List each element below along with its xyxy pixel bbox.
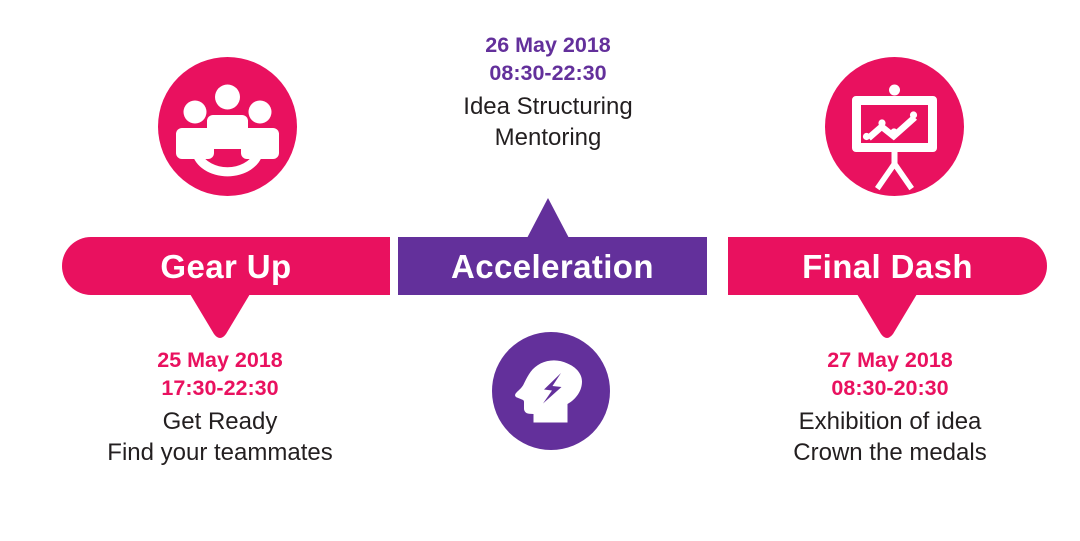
pointer-tail-acceleration: [518, 198, 578, 240]
description-line: Exhibition of idea: [700, 407, 1080, 438]
infographic-timeline: Gear Up Acceleration Final Dash 25 May 2…: [0, 0, 1080, 541]
brain-lightning-icon: [492, 332, 610, 450]
description-line: Idea Structuring: [378, 92, 718, 123]
banner-gear-up[interactable]: Gear Up: [62, 237, 390, 295]
time-acceleration: 08:30-22:30: [378, 60, 718, 88]
pointer-tail-final-dash: [857, 294, 917, 342]
time-final-dash: 08:30-20:30: [700, 375, 1080, 403]
description-line: Find your teammates: [20, 438, 420, 469]
details-gear-up: 25 May 2018 17:30-22:30 Get Ready Find y…: [20, 347, 420, 468]
date-acceleration: 26 May 2018: [378, 32, 718, 60]
team-group-icon: [158, 57, 297, 196]
banner-acceleration[interactable]: Acceleration: [398, 237, 707, 295]
banner-label-final-dash: Final Dash: [802, 250, 973, 283]
details-final-dash: 27 May 2018 08:30-20:30 Exhibition of id…: [700, 347, 1080, 468]
date-final-dash: 27 May 2018: [700, 347, 1080, 375]
details-acceleration: 26 May 2018 08:30-22:30 Idea Structuring…: [378, 32, 718, 153]
time-gear-up: 17:30-22:30: [20, 375, 420, 403]
description-acceleration: Idea Structuring Mentoring: [378, 92, 718, 153]
date-gear-up: 25 May 2018: [20, 347, 420, 375]
banner-label-gear-up: Gear Up: [160, 250, 291, 283]
banner-final-dash[interactable]: Final Dash: [728, 237, 1047, 295]
description-gear-up: Get Ready Find your teammates: [20, 407, 420, 468]
description-line: Get Ready: [20, 407, 420, 438]
description-line: Mentoring: [378, 123, 718, 154]
presentation-chart-icon: [825, 57, 964, 196]
banner-label-acceleration: Acceleration: [451, 250, 654, 283]
description-line: Crown the medals: [700, 438, 1080, 469]
pointer-tail-gear-up: [190, 294, 250, 342]
description-final-dash: Exhibition of idea Crown the medals: [700, 407, 1080, 468]
